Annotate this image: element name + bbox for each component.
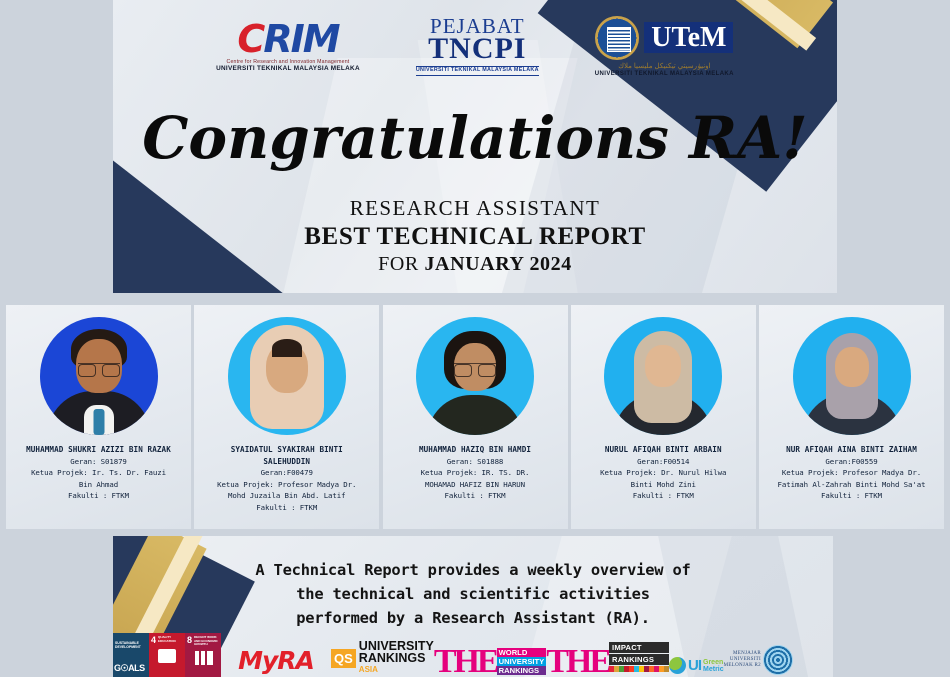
impact-line-1: IMPACT — [609, 642, 669, 653]
qs-badge: QS — [331, 649, 356, 668]
menjajar-text: MENJAJAR UNIVERSITI MELONJAK R2 — [724, 651, 761, 669]
award-subtitle-block: RESEARCH ASSISTANT BEST TECHNICAL REPORT… — [113, 196, 837, 276]
description-text: A Technical Report provides a weekly ove… — [113, 558, 833, 630]
awardee-ketua-projek: Ketua Projek: Profesor Madya Dr. — [761, 467, 943, 479]
awardee-card: NUR AFIQAH AINA BINTI ZAIHAM Geran:F0055… — [759, 305, 944, 529]
sdg-goal-4-number: 4 — [151, 635, 156, 645]
awardee-caption: NURUL AFIQAH BINTI ARBAIN Geran:F00514 K… — [572, 444, 754, 502]
swirl-icon — [763, 645, 793, 675]
awardee-ketua-projek: Ketua Projek: Profesor Madya Dr. — [196, 479, 378, 491]
awardee-card: MUHAMMAD SHUKRI AZIZI BIN RAZAK Geran: S… — [6, 305, 191, 529]
awardee-ketua-projek: Ketua Projek: Dr. Nurul Hilwa — [572, 467, 754, 479]
crim-letter-c: C — [237, 17, 263, 61]
qs-text: UNIVERSITY RANKINGS ASIA — [359, 640, 434, 676]
the-line-2: UNIVERSITY — [497, 657, 547, 666]
the-line-1: WORLD — [497, 648, 547, 657]
award-period: FOR JANUARY 2024 — [113, 253, 837, 276]
sdg-goal-4-icon: 4 QUALITY EDUCATION — [149, 633, 185, 677]
awardee-name: MUHAMMAD SHUKRI AZIZI BIN RAZAK — [8, 444, 190, 456]
awardee-geran: Geran:F00479 — [196, 467, 378, 479]
awardee-name: NUR AFIQAH AINA BINTI ZAIHAM — [761, 444, 943, 456]
awardee-ketua-projek: Ketua Projek: Ir. Ts. Dr. Fauzi — [8, 467, 190, 479]
awardee-geran: Geran: S01879 — [8, 456, 190, 468]
pejabat-tncpi-logo: PEJABAT TNCPI UNIVERSITI TEKNIKAL MALAYS… — [416, 16, 539, 75]
utem-mark-row: UTeM — [595, 16, 733, 60]
award-category: RESEARCH ASSISTANT — [113, 196, 837, 221]
award-period-month-year: JANUARY 2024 — [424, 253, 571, 275]
awardee-name: MUHAMMAD HAZIQ BIN HAMDI — [384, 444, 566, 456]
awardee-name: NURUL AFIQAH BINTI ARBAIN — [572, 444, 754, 456]
awardee-name: SYAIDATUL SYAKIRAH BINTI — [196, 444, 378, 456]
sdg-icons: 4 QUALITY EDUCATION 8 DECENT WORK AND EC… — [149, 633, 221, 677]
the-impact-wordmark: THE — [546, 649, 609, 675]
awardee-geran: Geran:F00559 — [761, 456, 943, 468]
awardee-fakulti: Fakulti : FTKM — [196, 502, 378, 514]
awardee-fakulti: Fakulti : FTKM — [8, 490, 190, 502]
awardee-fakulti: Fakulti : FTKM — [572, 490, 754, 502]
avatar — [793, 317, 911, 435]
awardee-ketua-projek-cont: Binti Mohd Zini — [572, 479, 754, 491]
the-wordmark: THE — [434, 649, 497, 675]
greenmetric-line-1: Green — [703, 659, 724, 666]
awardee-caption: SYAIDATUL SYAKIRAH BINTI SALEHUDDIN Gera… — [196, 444, 378, 514]
avatar — [416, 317, 534, 435]
sdg-goal-8-icon: 8 DECENT WORK AND ECONOMIC GROWTH — [185, 633, 221, 677]
bottom-panel: A Technical Report provides a weekly ove… — [113, 536, 833, 677]
globe-icon — [669, 657, 686, 674]
impact-rankings-text: IMPACT RANKINGS — [609, 642, 669, 672]
awardee-geran: Geran: S01888 — [384, 456, 566, 468]
crim-logo: CRIM Centre for Research and Innovation … — [216, 20, 360, 73]
award-title: BEST TECHNICAL REPORT — [113, 223, 837, 251]
growth-chart-icon — [195, 651, 213, 665]
awardee-card: NURUL AFIQAH BINTI ARBAIN Geran:F00514 K… — [571, 305, 756, 529]
avatar — [604, 317, 722, 435]
qs-line-2: RANKINGS — [359, 652, 434, 664]
crim-subtitle-2: UNIVERSITI TEKNIKAL MALAYSIA MELAKA — [216, 66, 360, 72]
awardee-ketua-projek: Ketua Projek: IR. TS. DR. — [384, 467, 566, 479]
awardee-ketua-projek-cont: Bin Ahmad — [8, 479, 190, 491]
footer-logo-strip: SUSTAINABLE DEVELOPMENT G☉ALS 4 QUALITY … — [113, 633, 833, 677]
myra-logo: MyRA — [221, 631, 331, 677]
qs-line-3: ASIA — [359, 664, 434, 676]
book-icon — [158, 649, 176, 663]
ui-wordmark: UI — [688, 657, 701, 674]
awardee-card: MUHAMMAD HAZIQ BIN HAMDI Geran: S01888 K… — [383, 305, 568, 529]
tncpi-label: TNCPI — [428, 34, 526, 64]
impact-color-dots — [609, 666, 669, 672]
utem-wordmark: UTeM — [644, 22, 733, 53]
awardee-fakulti: Fakulti : FTKM — [761, 490, 943, 502]
the-line-3: RANKINGS — [497, 666, 547, 675]
award-period-prefix: FOR — [378, 253, 424, 275]
awardee-caption: MUHAMMAD SHUKRI AZIZI BIN RAZAK Geran: S… — [8, 444, 190, 502]
crim-letters-rim: RIM — [263, 17, 338, 61]
avatar — [40, 317, 158, 435]
the-impact-rankings-logo: THE IMPACT RANKINGS — [546, 642, 669, 675]
logo-row: CRIM Centre for Research and Innovation … — [113, 6, 837, 86]
qs-rankings-logo: QS UNIVERSITY RANKINGS ASIA — [331, 643, 434, 673]
menjajar-universiti-logo: MENJAJAR UNIVERSITI MELONJAK R2 — [724, 645, 793, 675]
menjajar-line-3: MELONJAK R2 — [724, 663, 761, 669]
sdg-goals-logo: SUSTAINABLE DEVELOPMENT G☉ALS — [113, 633, 149, 677]
sdg-goal-4-label: QUALITY EDUCATION — [158, 636, 183, 643]
myra-wordmark: MyRA — [238, 646, 314, 675]
the-world-rankings-logo: THE WORLD UNIVERSITY RANKINGS — [434, 648, 546, 675]
sdg-title-big: G☉ALS — [114, 663, 145, 674]
the-rankings-text: WORLD UNIVERSITY RANKINGS — [497, 648, 547, 675]
sdg-goal-8-number: 8 — [187, 635, 192, 645]
awardee-ketua-projek-cont: MOHAMAD HAFIZ BIN HARUN — [384, 479, 566, 491]
description-line-2: the technical and scientific activities — [113, 582, 833, 606]
utem-subtitle: UNIVERSITI TEKNIKAL MALAYSIA MELAKA — [595, 71, 734, 77]
pejabat-subtitle: UNIVERSITI TEKNIKAL MALAYSIA MELAKA — [416, 66, 539, 75]
description-line-3: performed by a Research Assistant (RA). — [113, 606, 833, 630]
sdg-goal-8-label: DECENT WORK AND ECONOMIC GROWTH — [194, 636, 219, 647]
sdg-title-small: SUSTAINABLE DEVELOPMENT — [115, 641, 149, 649]
awardee-row: MUHAMMAD SHUKRI AZIZI BIN RAZAK Geran: S… — [0, 305, 950, 529]
awardee-caption: NUR AFIQAH AINA BINTI ZAIHAM Geran:F0055… — [761, 444, 943, 502]
poster-root: CRIM Centre for Research and Innovation … — [0, 0, 950, 677]
impact-line-2: RANKINGS — [609, 654, 669, 665]
description-line-1: A Technical Report provides a weekly ove… — [113, 558, 833, 582]
utem-seal-icon — [595, 16, 639, 60]
awardee-fakulti: Fakulti : FTKM — [384, 490, 566, 502]
top-banner: CRIM Centre for Research and Innovation … — [113, 0, 837, 293]
avatar — [228, 317, 346, 435]
greenmetric-line-2: Metric — [703, 666, 724, 673]
awardee-caption: MUHAMMAD HAZIQ BIN HAMDI Geran: S01888 K… — [384, 444, 566, 502]
awardee-geran: Geran:F00514 — [572, 456, 754, 468]
headline: Congratulations RA! — [113, 104, 837, 172]
ui-greenmetric-logo: UI Green Metric — [669, 657, 724, 674]
awardee-card: SYAIDATUL SYAKIRAH BINTI SALEHUDDIN Gera… — [194, 305, 379, 529]
utem-logo: UTeM اونيۏرسيتي تيكنيكل مليسيا ملاك UNIV… — [595, 16, 734, 77]
awardee-ketua-projek-cont: Fatimah Al-Zahrah Binti Mohd Sa'at — [761, 479, 943, 491]
awardee-name-cont: SALEHUDDIN — [196, 456, 378, 468]
crim-wordmark-icon: CRIM — [237, 20, 338, 58]
utem-jawi-script: اونيۏرسيتي تيكنيكل مليسيا ملاك — [618, 63, 710, 70]
greenmetric-text: Green Metric — [703, 659, 724, 673]
awardee-ketua-projek-cont: Mohd Juzaila Bin Abd. Latif — [196, 490, 378, 502]
